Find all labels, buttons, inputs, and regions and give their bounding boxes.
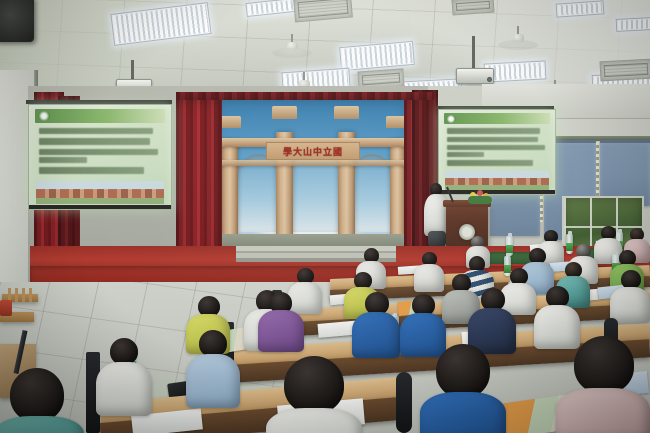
slide-campus-photo <box>445 171 549 189</box>
speaker-trousers <box>428 231 446 247</box>
audience-member <box>96 338 152 412</box>
backdrop-name-plaque-text: 學大山中立國 <box>283 145 343 158</box>
left-projection-screen <box>28 104 172 210</box>
slide-header-band <box>35 109 166 123</box>
ceiling-light-panel <box>616 17 650 32</box>
person-torso <box>266 408 362 433</box>
slide-text-line <box>447 160 533 165</box>
audience-member <box>186 330 240 404</box>
stage-curtain-valance <box>176 92 434 100</box>
audience-member-foreground <box>266 356 362 433</box>
person-torso <box>610 287 650 323</box>
flower-foliage <box>468 196 492 204</box>
desk-divider-rail <box>396 372 412 433</box>
slide-text-line <box>39 149 158 155</box>
backdrop-pillar <box>390 140 405 236</box>
backdrop-pillar-cap <box>272 106 297 119</box>
person-head <box>284 356 344 414</box>
projector-right <box>452 36 494 84</box>
ceiling-fan <box>272 34 312 62</box>
audience-member <box>258 290 304 348</box>
slide-campus-photo <box>36 181 164 204</box>
audience-member <box>414 252 444 292</box>
ceiling <box>0 0 650 96</box>
person-torso <box>0 416 84 433</box>
slide-text-line <box>39 167 144 173</box>
person-torso <box>352 312 400 358</box>
slide-text-line <box>447 128 540 133</box>
ac-diffuser <box>600 59 650 82</box>
person-torso <box>414 264 444 292</box>
person-torso <box>556 388 650 433</box>
slide-text-line <box>447 152 484 157</box>
audience-member <box>352 292 400 354</box>
backdrop-pillar <box>222 140 238 236</box>
slide-text-line <box>447 137 537 142</box>
screen-bottom-bar <box>29 205 171 209</box>
person-head <box>574 336 634 394</box>
person-torso <box>420 392 506 433</box>
audience-member <box>468 288 516 350</box>
right-projection-screen <box>438 109 556 195</box>
person-head <box>10 368 64 422</box>
stage-backdrop-paifang: 學大山中立國 <box>214 98 410 250</box>
backdrop-name-plaque: 學大山中立國 <box>266 142 360 160</box>
person-head <box>436 344 490 398</box>
backdrop-pillar-cap <box>219 116 241 128</box>
person-head <box>110 338 138 365</box>
ceiling-fan <box>498 26 538 54</box>
audience-member-foreground <box>420 344 506 433</box>
person-torso <box>186 354 240 408</box>
podium-flower-arrangement <box>468 190 492 204</box>
audience-member <box>610 270 650 320</box>
backdrop-pillar-cap <box>334 106 359 119</box>
screen-bottom-bar <box>439 190 555 194</box>
slide-text-line <box>39 157 87 163</box>
audience-member-foreground <box>0 368 84 433</box>
slide-text-line <box>39 138 150 144</box>
person-torso <box>258 310 304 352</box>
person-head <box>199 330 227 357</box>
person-torso <box>96 362 152 416</box>
red-bin <box>0 300 12 316</box>
slide-text-line <box>447 145 544 150</box>
slide-text-line <box>39 128 153 134</box>
audience-member-foreground <box>556 336 650 433</box>
lecture-hall-photo: 學大山中立國 <box>0 0 650 433</box>
ceiling-speaker <box>0 0 34 42</box>
slide-header-band <box>444 113 551 124</box>
chair-backrest <box>8 288 36 302</box>
backdrop-lintel <box>218 160 406 166</box>
